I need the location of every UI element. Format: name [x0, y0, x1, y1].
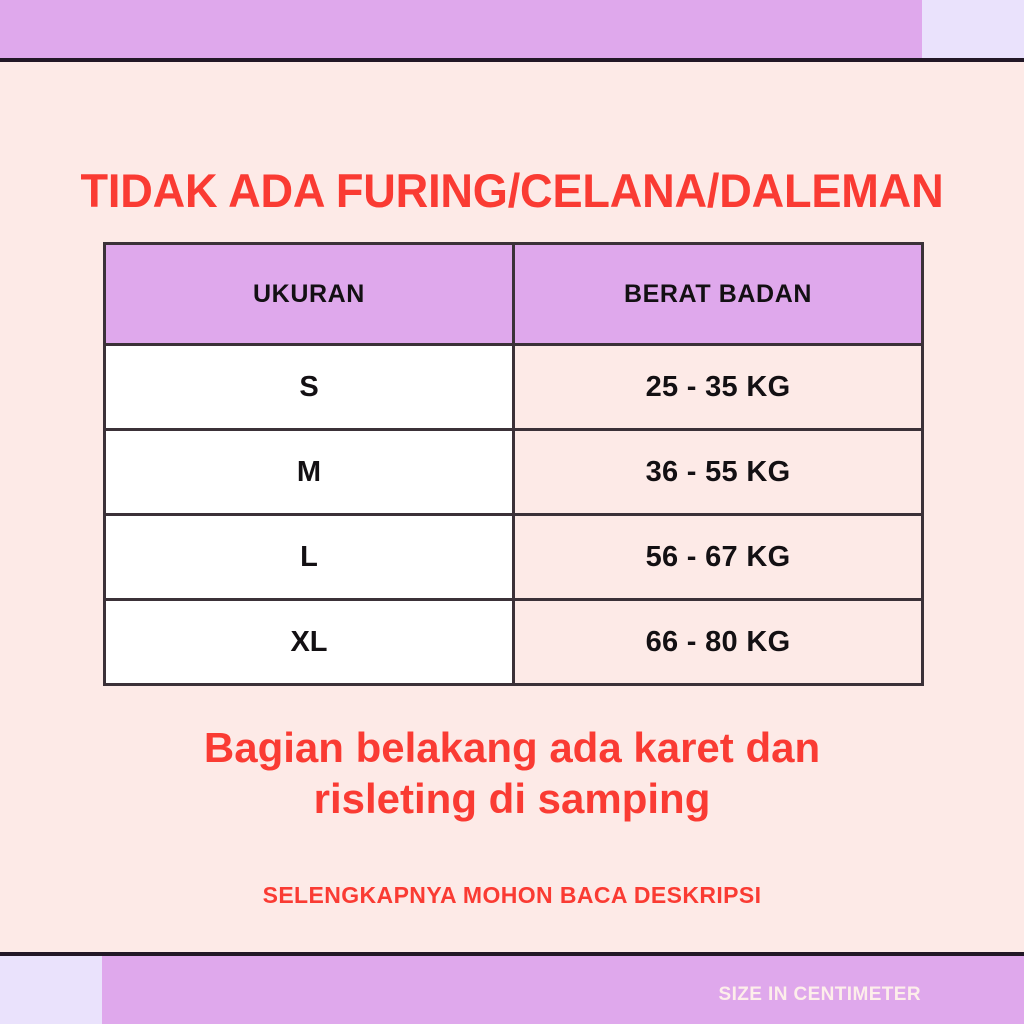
bottom-decorative-band: SIZE IN CENTIMETER [0, 952, 1024, 1024]
cell-size: L [105, 515, 514, 600]
cell-weight: 66 - 80 KG [514, 600, 923, 685]
note-major-line-2: risleting di samping [0, 773, 1024, 824]
table-row: L 56 - 67 KG [105, 515, 923, 600]
top-band-purple-swatch [0, 0, 922, 62]
cell-size: M [105, 430, 514, 515]
content-sheet: TIDAK ADA FURING/CELANA/DALEMAN UKURAN B… [0, 62, 1024, 952]
note-elastic-and-zipper: Bagian belakang ada karet dan risleting … [0, 722, 1024, 824]
size-chart-table: UKURAN BERAT BADAN S 25 - 35 KG M 36 - 5… [103, 242, 924, 686]
headline-no-lining-warning: TIDAK ADA FURING/CELANA/DALEMAN [20, 163, 1003, 218]
size-chart-graphic: { "decor": { "top_band_color": "#dfa8ec"… [0, 0, 1024, 1024]
column-header-ukuran: UKURAN [105, 244, 514, 345]
cell-weight: 56 - 67 KG [514, 515, 923, 600]
table-body: S 25 - 35 KG M 36 - 55 KG L 56 - 67 KG X… [105, 345, 923, 685]
table-header-row: UKURAN BERAT BADAN [105, 244, 923, 345]
cell-size: XL [105, 600, 514, 685]
column-header-berat-badan: BERAT BADAN [514, 244, 923, 345]
note-major-line-1: Bagian belakang ada karet dan [0, 722, 1024, 773]
cell-size: S [105, 345, 514, 430]
table-row: M 36 - 55 KG [105, 430, 923, 515]
footer-size-unit-note: SIZE IN CENTIMETER [719, 984, 922, 1006]
table-row: XL 66 - 80 KG [105, 600, 923, 685]
cell-weight: 25 - 35 KG [514, 345, 923, 430]
note-read-description: SELENGKAPNYA MOHON BACA DESKRIPSI [0, 882, 1024, 909]
cell-weight: 36 - 55 KG [514, 430, 923, 515]
table-header: UKURAN BERAT BADAN [105, 244, 923, 345]
bottom-band-divider-rule [0, 952, 1024, 956]
top-decorative-band [0, 0, 1024, 62]
table-row: S 25 - 35 KG [105, 345, 923, 430]
